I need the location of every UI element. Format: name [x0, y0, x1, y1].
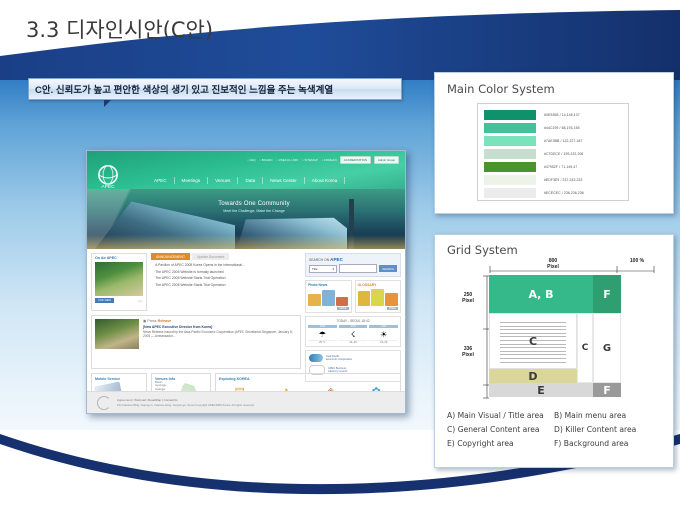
- press-release-panel[interactable]: ▣ Press Release [New APEC Executive Dire…: [91, 315, 301, 369]
- site-row-primary: On Air APEC VOD VIEW ◁ ▷ ANNOUNCEMENT Up…: [91, 253, 401, 311]
- grid-diagram: 800 Pixel 100 % 250 Pixel 336 Pixel A,: [451, 259, 657, 399]
- glossary-title: GLOSSARY: [358, 283, 399, 287]
- utility-link-sitemap[interactable]: SITEMAP: [302, 158, 318, 162]
- legend-row: A) Main Visual / Title area B) Main menu…: [447, 411, 661, 420]
- nav-item-about-korea[interactable]: About Korea: [305, 178, 345, 183]
- press-release-thumbnail: [95, 319, 139, 349]
- search-heading-brand: APEC: [330, 257, 343, 262]
- color-chip: [484, 162, 536, 172]
- legend-item-d: D) Killer Content area: [554, 425, 661, 434]
- color-chip: [484, 123, 536, 133]
- main-color-system-panel: Main Color System #0E926B / 14,146,107 #…: [434, 72, 674, 214]
- photo-news-tile[interactable]: Photo News MORE: [305, 280, 352, 313]
- color-swatch-row: #0E926B / 14,146,107: [484, 109, 622, 121]
- grid-block-g: G: [593, 313, 621, 383]
- legend-key-b: B): [554, 411, 562, 420]
- subtitle-tail-icon: [104, 100, 111, 107]
- legend-text-d: Killer Content area: [565, 425, 636, 434]
- mobile-service-title: Mobile Service: [95, 377, 143, 381]
- color-system-title: Main Color System: [447, 82, 555, 96]
- on-air-thumbnail[interactable]: [95, 262, 143, 296]
- hero-title: Towards One Community: [179, 201, 329, 207]
- on-air-panel: On Air APEC VOD VIEW ◁ ▷: [91, 253, 147, 311]
- grid-legend: A) Main Visual / Title area B) Main menu…: [447, 411, 661, 453]
- press-release-label-accent: Release: [158, 319, 172, 323]
- legend-key-a: A): [447, 411, 455, 420]
- legend-item-c: C) General Content area: [447, 425, 554, 434]
- on-air-badge[interactable]: VOD VIEW: [95, 298, 114, 303]
- footer-links[interactable]: Agreement | Webmail | RoadMap | ContactU…: [117, 398, 255, 402]
- search-controls: Title ▾ SEARCH: [309, 264, 397, 273]
- news-list: A Pavilion of APEC 2005 Korea Opens in t…: [151, 263, 301, 287]
- chevron-down-icon: ▾: [332, 267, 334, 271]
- utility-link-board[interactable]: BOARD: [260, 158, 273, 162]
- footer-address: 131 Daewoo Bldg, Sejong-ro, Naesoo-dong,…: [117, 403, 255, 407]
- search-heading: SEARCH ON APEC: [309, 257, 397, 262]
- utility-link-useful[interactable]: USEFUL LINK: [277, 158, 299, 162]
- color-swatch-list: #0E926B / 14,146,107 #44C199 / 68,193,15…: [477, 103, 629, 201]
- apec-logo-icon[interactable]: APEC: [94, 163, 122, 191]
- search-heading-prefix: SEARCH ON: [309, 258, 329, 262]
- site-footer: Agreement | Webmail | RoadMap | ContactU…: [87, 391, 405, 413]
- news-item[interactable]: The APEC 2005 Website Starts Trial Opera…: [154, 276, 301, 280]
- legend-item-e: E) Copyright area: [447, 439, 554, 448]
- search-button[interactable]: SEARCH: [379, 265, 397, 272]
- page-title: 3.3 디자인시안(C안): [26, 14, 213, 44]
- news-item[interactable]: A Pavilion of APEC 2005 Korea Opens in t…: [154, 263, 301, 267]
- exploring-korea-title: Exploring KOREA: [219, 377, 397, 381]
- grid-block-c-side: C: [577, 313, 593, 383]
- nav-item-apec[interactable]: APEC: [147, 178, 174, 183]
- photo-news-more-button[interactable]: MORE: [337, 307, 348, 310]
- feature-tiles: Photo News MORE GLOSSARY MORE: [305, 280, 401, 313]
- nav-item-news-center[interactable]: News Center: [263, 178, 304, 183]
- legend-key-d: D): [554, 425, 563, 434]
- search-field-select-value: Title: [312, 267, 318, 271]
- site-main-nav[interactable]: APEC Meetings Venues Data News Center Ab…: [147, 173, 397, 187]
- color-swatch-row: #C7DECE / 199,222,206: [484, 148, 622, 160]
- legend-item-b: B) Main menu area: [554, 411, 661, 420]
- apec-logo-text: APEC: [101, 184, 115, 190]
- accreditation-button[interactable]: ACCREDITATION: [340, 156, 371, 164]
- color-swatch-row: #47952F / 71,149,47: [484, 161, 622, 173]
- color-swatch-label: #47952F / 71,149,47: [544, 165, 577, 169]
- nav-separator: [344, 177, 345, 184]
- dimension-top-height-unit: Pixel: [462, 298, 474, 304]
- color-chip: [484, 149, 536, 159]
- grid-block-ab: A, B: [489, 275, 593, 313]
- press-row-spacer: [305, 315, 401, 369]
- dimension-mid-height-label: 336 Pixel: [451, 347, 485, 358]
- nav-item-meetings[interactable]: Meetings: [175, 178, 208, 183]
- dimension-width-unit: Pixel: [547, 264, 559, 270]
- color-swatch-label: #EDF3E9 / 237,243,233: [544, 178, 582, 182]
- press-release-text: ▣ Press Release [New APEC Executive Dire…: [143, 319, 297, 365]
- tab-update-document[interactable]: Update Document: [192, 253, 229, 260]
- color-swatch-label: #ECECEC / 236,236,236: [544, 191, 584, 195]
- legend-item-a: A) Main Visual / Title area: [447, 411, 554, 420]
- legend-text-f: Background area: [564, 439, 629, 448]
- search-panel: SEARCH ON APEC Title ▾ SEARCH: [305, 253, 401, 277]
- grid-system-title: Grid System: [447, 243, 518, 257]
- legend-row: E) Copyright area F) Background area: [447, 439, 661, 448]
- grid-block-e: E: [489, 383, 593, 397]
- slide-canvas: 3.3 디자인시안(C안) C안. 신뢰도가 높고 편안한 색상의 생기 있고 …: [0, 0, 680, 510]
- legend-row: C) General Content area D) Killer Conten…: [447, 425, 661, 434]
- on-air-title: On Air APEC: [92, 254, 146, 262]
- hero-tagline: Towards One Community Meet the Challenge…: [179, 201, 329, 213]
- legend-text-b: Main menu area: [565, 411, 627, 420]
- search-field-select[interactable]: Title ▾: [309, 265, 337, 273]
- dimension-top-height-label: 250 Pixel: [451, 293, 485, 304]
- announcement-panel: ANNOUNCEMENT Update Document A Pavilion …: [151, 253, 301, 311]
- grid-block-c-main-label: C: [529, 335, 537, 348]
- utility-link-faq[interactable]: FAQ: [247, 158, 255, 162]
- nav-item-data[interactable]: Data: [238, 178, 262, 183]
- on-air-pager-icon[interactable]: ◁ ▷: [138, 299, 143, 303]
- website-design-mockup: FAQ BOARD USEFUL LINK SITEMAP KOREAN ACC…: [86, 150, 406, 414]
- press-release-label: ▣ Press Release: [143, 319, 297, 323]
- grid-block-f-bottom: F: [593, 383, 621, 397]
- on-air-controls: VOD VIEW ◁ ▷: [92, 296, 146, 305]
- news-item[interactable]: The APEC 2005 Website Starts Trial Opera…: [154, 283, 301, 287]
- legend-text-e: Copyright area: [457, 439, 513, 448]
- grid-block-f-top: F: [593, 275, 621, 313]
- hero-glow: [87, 235, 405, 249]
- color-swatch-label: #0E926B / 14,146,107: [544, 113, 580, 117]
- dimension-percent-label: 100 %: [619, 259, 655, 265]
- admin-group-button[interactable]: Admin Group: [374, 156, 399, 164]
- color-chip: [484, 188, 536, 198]
- site-right-column: SEARCH ON APEC Title ▾ SEARCH: [305, 253, 401, 311]
- press-release-headline: [New APEC Executive Director from Korea]: [143, 325, 297, 329]
- footer-text: Agreement | Webmail | RoadMap | ContactU…: [117, 398, 255, 408]
- legend-text-c: General Content area: [458, 425, 540, 434]
- dimension-width-label: 800 Pixel: [489, 259, 617, 270]
- color-swatch-row: #7AE3BB / 122,227,187: [484, 135, 622, 147]
- grid-system-panel: Grid System 800 Pixel 100 %: [434, 234, 674, 468]
- color-swatch-row: #ECECEC / 236,236,236: [484, 187, 622, 199]
- site-body: On Air APEC VOD VIEW ◁ ▷ ANNOUNCEMENT Up…: [87, 249, 405, 397]
- news-item[interactable]: The APEC 2005 Website is formally launch…: [154, 270, 301, 274]
- utility-link-korean[interactable]: KOREAN: [322, 158, 337, 162]
- dimension-mid-height-unit: Pixel: [462, 352, 474, 358]
- color-swatch-label: #44C199 / 68,193,155: [544, 126, 580, 130]
- grid-block-c-main: C: [489, 313, 577, 369]
- legend-key-e: E): [447, 439, 455, 448]
- press-release-body: News Release issued by the Asia-Pacific …: [143, 330, 297, 339]
- color-chip: [484, 110, 536, 120]
- color-swatch-row: #44C199 / 68,193,155: [484, 122, 622, 134]
- site-utility-bar: FAQ BOARD USEFUL LINK SITEMAP KOREAN ACC…: [87, 155, 405, 164]
- color-chip: [484, 136, 536, 146]
- legend-text-a: Main Visual / Title area: [458, 411, 544, 420]
- grid-block-d: D: [489, 369, 577, 383]
- glossary-tile[interactable]: GLOSSARY MORE: [355, 280, 402, 313]
- tab-announcement[interactable]: ANNOUNCEMENT: [151, 253, 190, 260]
- footer-logo-icon: [97, 396, 111, 410]
- site-hero: FAQ BOARD USEFUL LINK SITEMAP KOREAN ACC…: [87, 151, 405, 249]
- nav-item-venues[interactable]: Venues: [208, 178, 237, 183]
- color-swatch-label: #C7DECE / 199,222,206: [544, 152, 583, 156]
- search-input[interactable]: [339, 264, 377, 273]
- photo-news-artwork: [308, 288, 349, 306]
- subtitle-banner: C안. 신뢰도가 높고 편안한 색상의 생기 있고 진보적인 느낌을 주는 녹색…: [28, 78, 402, 100]
- glossary-more-button[interactable]: MORE: [387, 307, 398, 310]
- photo-news-title: Photo News: [308, 283, 349, 287]
- utility-links[interactable]: FAQ BOARD USEFUL LINK SITEMAP KOREAN: [247, 158, 336, 162]
- legend-key-c: C): [447, 425, 455, 434]
- glossary-artwork: [358, 288, 399, 306]
- announcement-tabs[interactable]: ANNOUNCEMENT Update Document: [151, 253, 301, 260]
- hero-subtitle: Meet the Challenge, Make the Change: [179, 209, 329, 213]
- site-row-press: ▣ Press Release [New APEC Executive Dire…: [91, 315, 401, 369]
- legend-item-f: F) Background area: [554, 439, 661, 448]
- legend-key-f: F): [554, 439, 561, 448]
- color-swatch-row: #EDF3E9 / 237,243,233: [484, 174, 622, 186]
- color-swatch-label: #7AE3BB / 122,227,187: [544, 139, 583, 143]
- subtitle-text: C안. 신뢰도가 높고 편안한 색상의 생기 있고 진보적인 느낌을 주는 녹색…: [28, 78, 402, 100]
- color-chip: [484, 175, 536, 185]
